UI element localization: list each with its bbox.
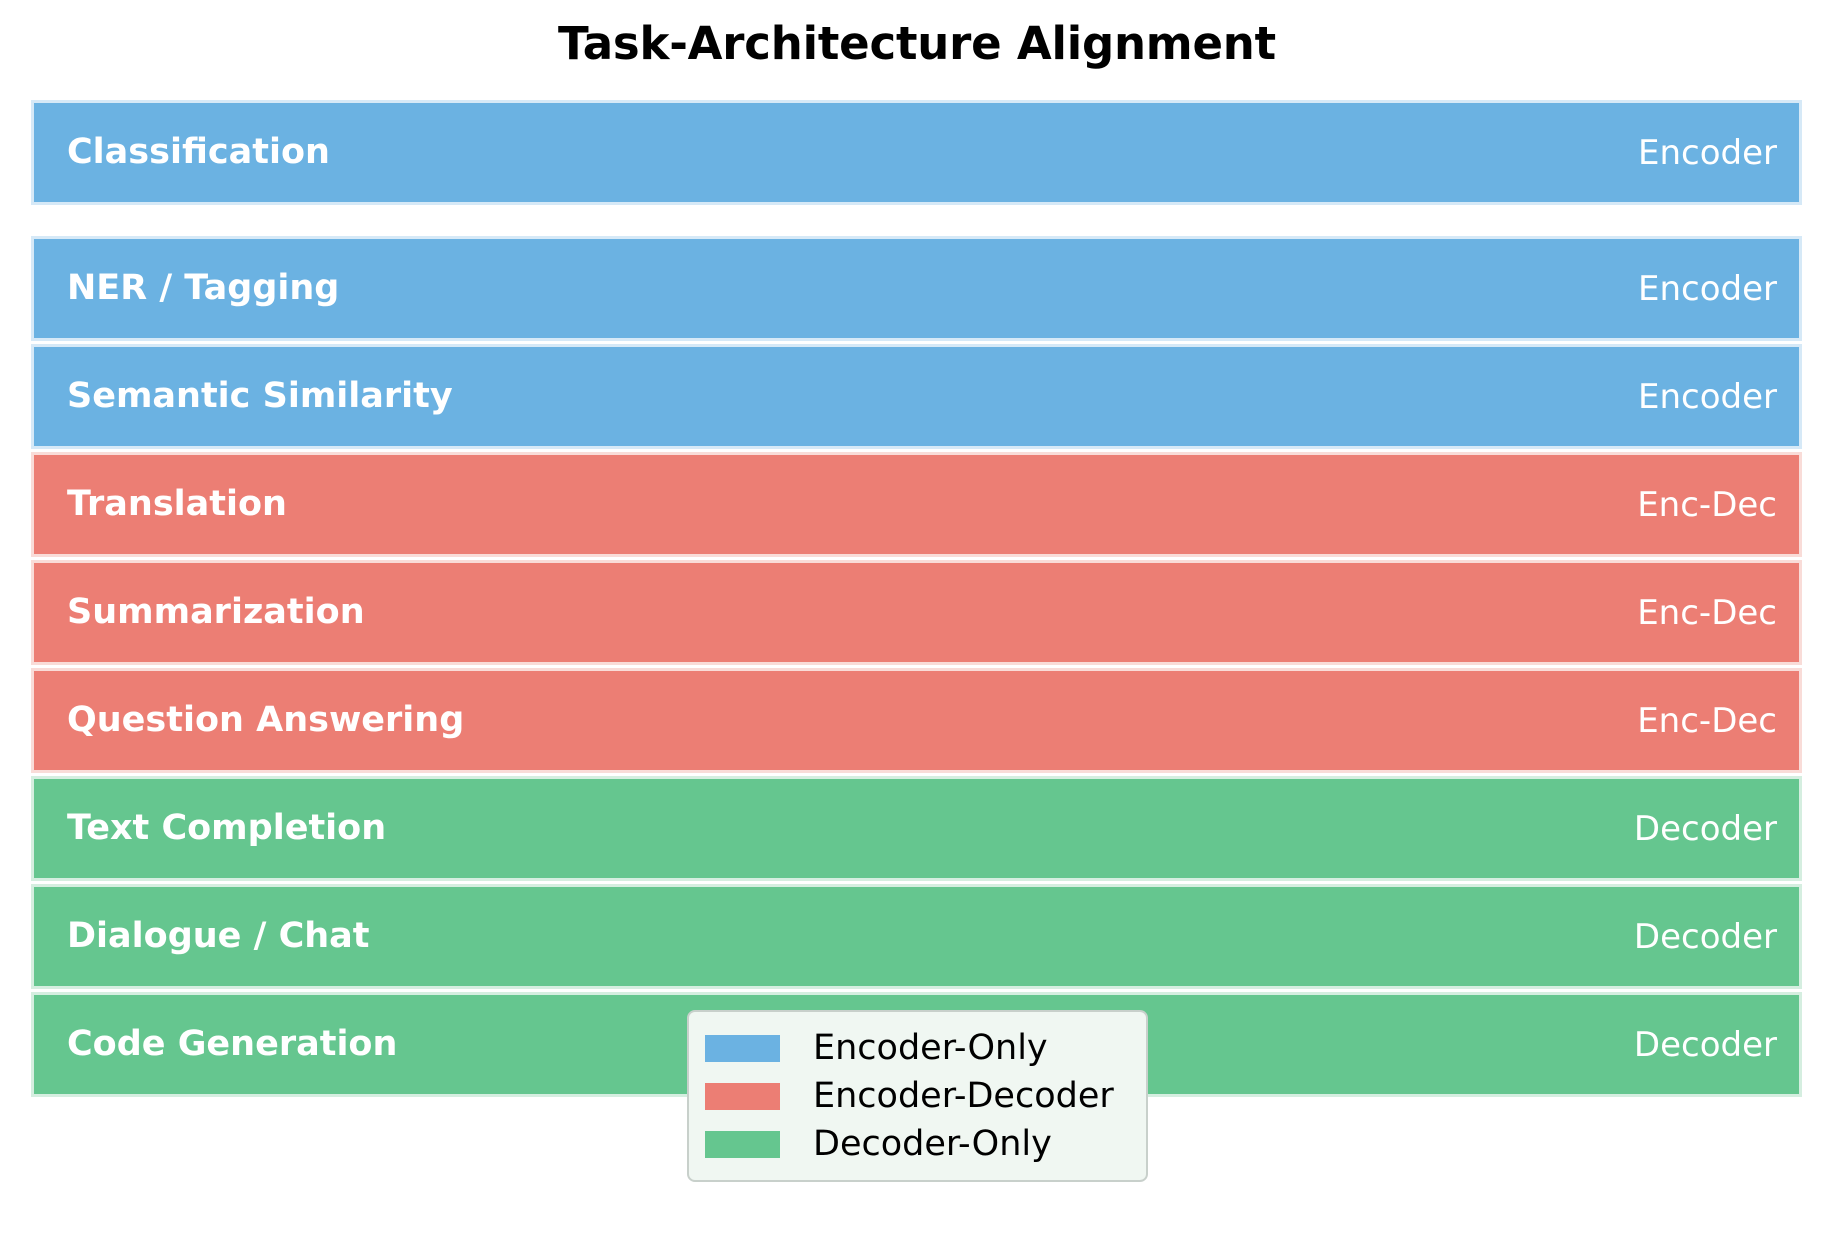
bar-architecture-label: Encoder <box>1638 380 1799 414</box>
bar-architecture-label: Encoder <box>1638 136 1799 170</box>
bar-architecture-label: Enc-Dec <box>1637 488 1799 522</box>
bar-row: Semantic SimilarityEncoder <box>31 344 1802 449</box>
bar-row: ClassificationEncoder <box>31 100 1802 205</box>
bar-task-label: Question Answering <box>34 703 464 738</box>
legend-item-label: Encoder-Decoder <box>813 1079 1114 1114</box>
legend-swatch-icon <box>705 1083 780 1110</box>
legend-item-label: Decoder-Only <box>813 1127 1052 1162</box>
bar-row: Text CompletionDecoder <box>31 776 1802 881</box>
legend-swatch-icon <box>705 1035 780 1062</box>
chart-legend: Encoder-OnlyEncoder-DecoderDecoder-Only <box>687 1010 1148 1182</box>
bar-task-label: Code Generation <box>34 1027 397 1062</box>
bar-row: Dialogue / ChatDecoder <box>31 884 1802 989</box>
bar-architecture-label: Enc-Dec <box>1637 704 1799 738</box>
legend-item-label: Encoder-Only <box>813 1031 1048 1066</box>
bar-task-label: Semantic Similarity <box>34 379 453 414</box>
bar-architecture-label: Decoder <box>1634 920 1799 954</box>
bar-row: Question AnsweringEnc-Dec <box>31 668 1802 773</box>
bar-row: NER / TaggingEncoder <box>31 236 1802 341</box>
bar-row: TranslationEnc-Dec <box>31 452 1802 557</box>
legend-item[interactable]: Decoder-Only <box>705 1120 1128 1168</box>
bar-task-label: Classification <box>34 135 330 170</box>
bar-architecture-label: Encoder <box>1638 272 1799 306</box>
bar-architecture-label: Enc-Dec <box>1637 596 1799 630</box>
bar-task-label: Dialogue / Chat <box>34 919 370 954</box>
bar-task-label: Text Completion <box>34 811 386 846</box>
bar-architecture-label: Decoder <box>1634 812 1799 846</box>
bar-task-label: Summarization <box>34 595 365 630</box>
bar-task-label: Translation <box>34 487 287 522</box>
legend-item[interactable]: Encoder-Only <box>705 1024 1128 1072</box>
legend-swatch-icon <box>705 1131 780 1158</box>
bar-task-label: NER / Tagging <box>34 271 339 306</box>
legend-item[interactable]: Encoder-Decoder <box>705 1072 1128 1120</box>
bar-architecture-label: Decoder <box>1634 1028 1799 1062</box>
bar-row: SummarizationEnc-Dec <box>31 560 1802 665</box>
chart-canvas: Task-Architecture Alignment Classificati… <box>0 0 1834 1234</box>
